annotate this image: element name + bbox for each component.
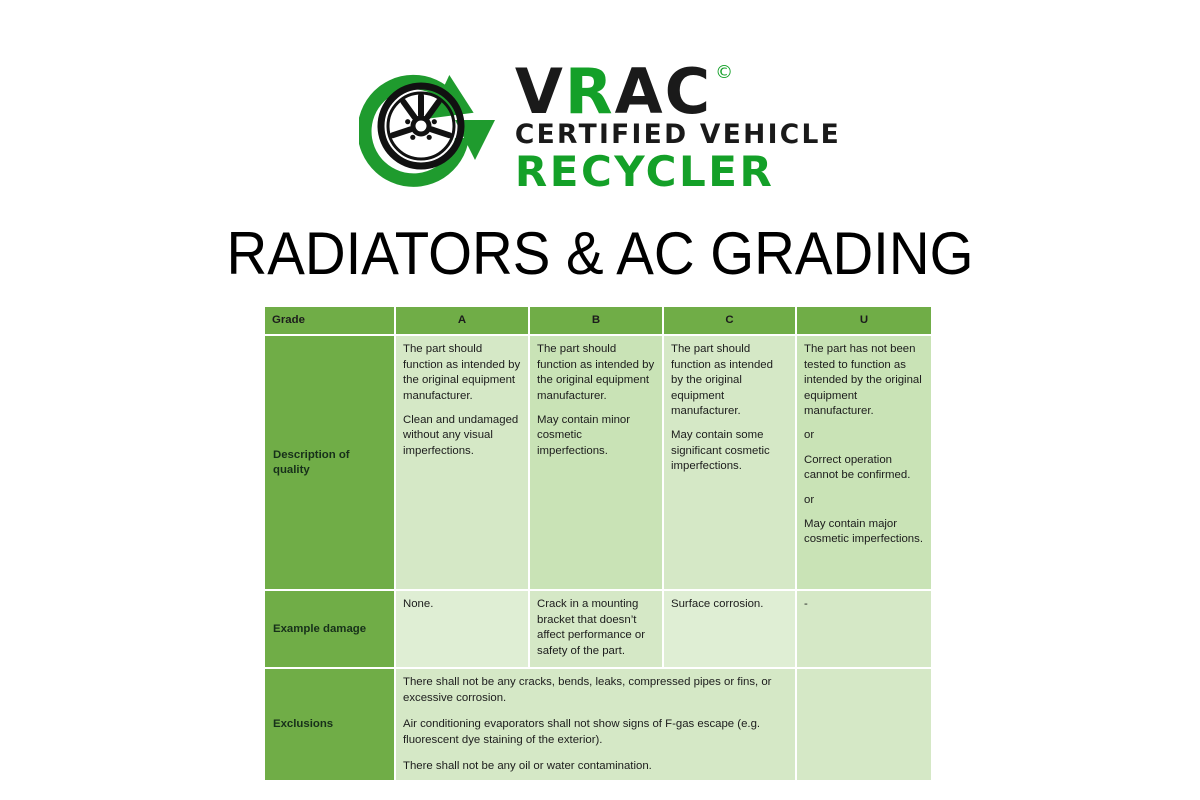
table-row-exclusions: Exclusions There shall not be any cracks… [265,669,931,782]
cell-paragraph: Air conditioning evaporators shall not s… [403,717,788,748]
header-grade-b: B [530,307,664,336]
cell-paragraph: The part should function as intended by … [671,342,788,419]
cell-paragraph: or [804,428,924,443]
vrac-wheel-recycle-logo-icon [359,58,509,194]
cell-paragraph: Clean and undamaged without any visual i… [403,413,521,459]
cell-description-c: The part should function as intended by … [664,336,797,591]
row-label-exclusions: Exclusions [265,669,396,782]
vrac-logo: VRAC© CERTIFIED VEHICLE RECYCLER [0,58,1200,194]
cell-paragraph: May contain minor cosmetic imperfections… [537,413,655,459]
cell-paragraph: Crack in a mounting bracket that doesn’t… [537,597,655,659]
cell-paragraph: The part should function as intended by … [537,342,655,404]
header-grade-a: A [396,307,530,336]
row-label-description-of-quality: Description of quality [265,336,396,591]
logo-tagline-certified-vehicle: CERTIFIED VEHICLE [515,122,841,149]
cell-paragraph: May contain major cosmetic imperfections… [804,517,924,548]
header-grade-label: Grade [265,307,396,336]
table-header-row: Grade A B C U [265,307,931,336]
cell-description-a: The part should function as intended by … [396,336,530,591]
cell-paragraph: There shall not be any oil or water cont… [403,759,788,774]
document-page: VRAC© CERTIFIED VEHICLE RECYCLER RADIATO… [0,0,1200,800]
logo-letter-v: V [515,63,565,120]
table-header: Grade A B C U [265,307,931,336]
logo-inner: VRAC© CERTIFIED VEHICLE RECYCLER [359,58,841,194]
cell-exclusions-u [797,669,931,782]
cell-paragraph: or [804,493,924,508]
cell-exclusions-abc: There shall not be any cracks, bends, le… [396,669,797,782]
cell-description-u: The part has not been tested to function… [797,336,931,591]
row-label-example-damage: Example damage [265,591,396,669]
cell-paragraph: The part has not been tested to function… [804,342,924,419]
cell-paragraph: The part should function as intended by … [403,342,521,404]
copyright-icon: © [715,65,735,82]
table-row-description-of-quality: Description of quality The part should f… [265,336,931,591]
page-title: RADIATORS & AC GRADING [36,222,1164,285]
cell-example-a: None. [396,591,530,669]
cell-paragraph: Surface corrosion. [671,597,788,612]
cell-paragraph: There shall not be any cracks, bends, le… [403,675,788,706]
cell-example-u: - [797,591,931,669]
cell-paragraph: May contain some significant cosmetic im… [671,428,788,474]
cell-paragraph: - [804,597,924,612]
logo-wordmark: VRAC© CERTIFIED VEHICLE RECYCLER [515,59,841,194]
cell-example-c: Surface corrosion. [664,591,797,669]
header-grade-u: U [797,307,931,336]
logo-tagline-recycler: RECYCLER [515,151,774,193]
logo-letters-ac: AC [615,63,712,120]
table-row-example-damage: Example damage None. Crack in a mounting… [265,591,931,669]
table-body: Description of quality The part should f… [265,336,931,782]
cell-paragraph: Correct operation cannot be confirmed. [804,453,924,484]
header-grade-c: C [664,307,797,336]
logo-letter-r: R [565,63,615,120]
cell-paragraph: None. [403,597,521,612]
cell-example-b: Crack in a mounting bracket that doesn’t… [530,591,664,669]
cell-description-b: The part should function as intended by … [530,336,664,591]
logo-vrac-text: VRAC© [515,63,735,120]
radiators-ac-grading-table: Grade A B C U Description of quality The… [265,307,931,782]
